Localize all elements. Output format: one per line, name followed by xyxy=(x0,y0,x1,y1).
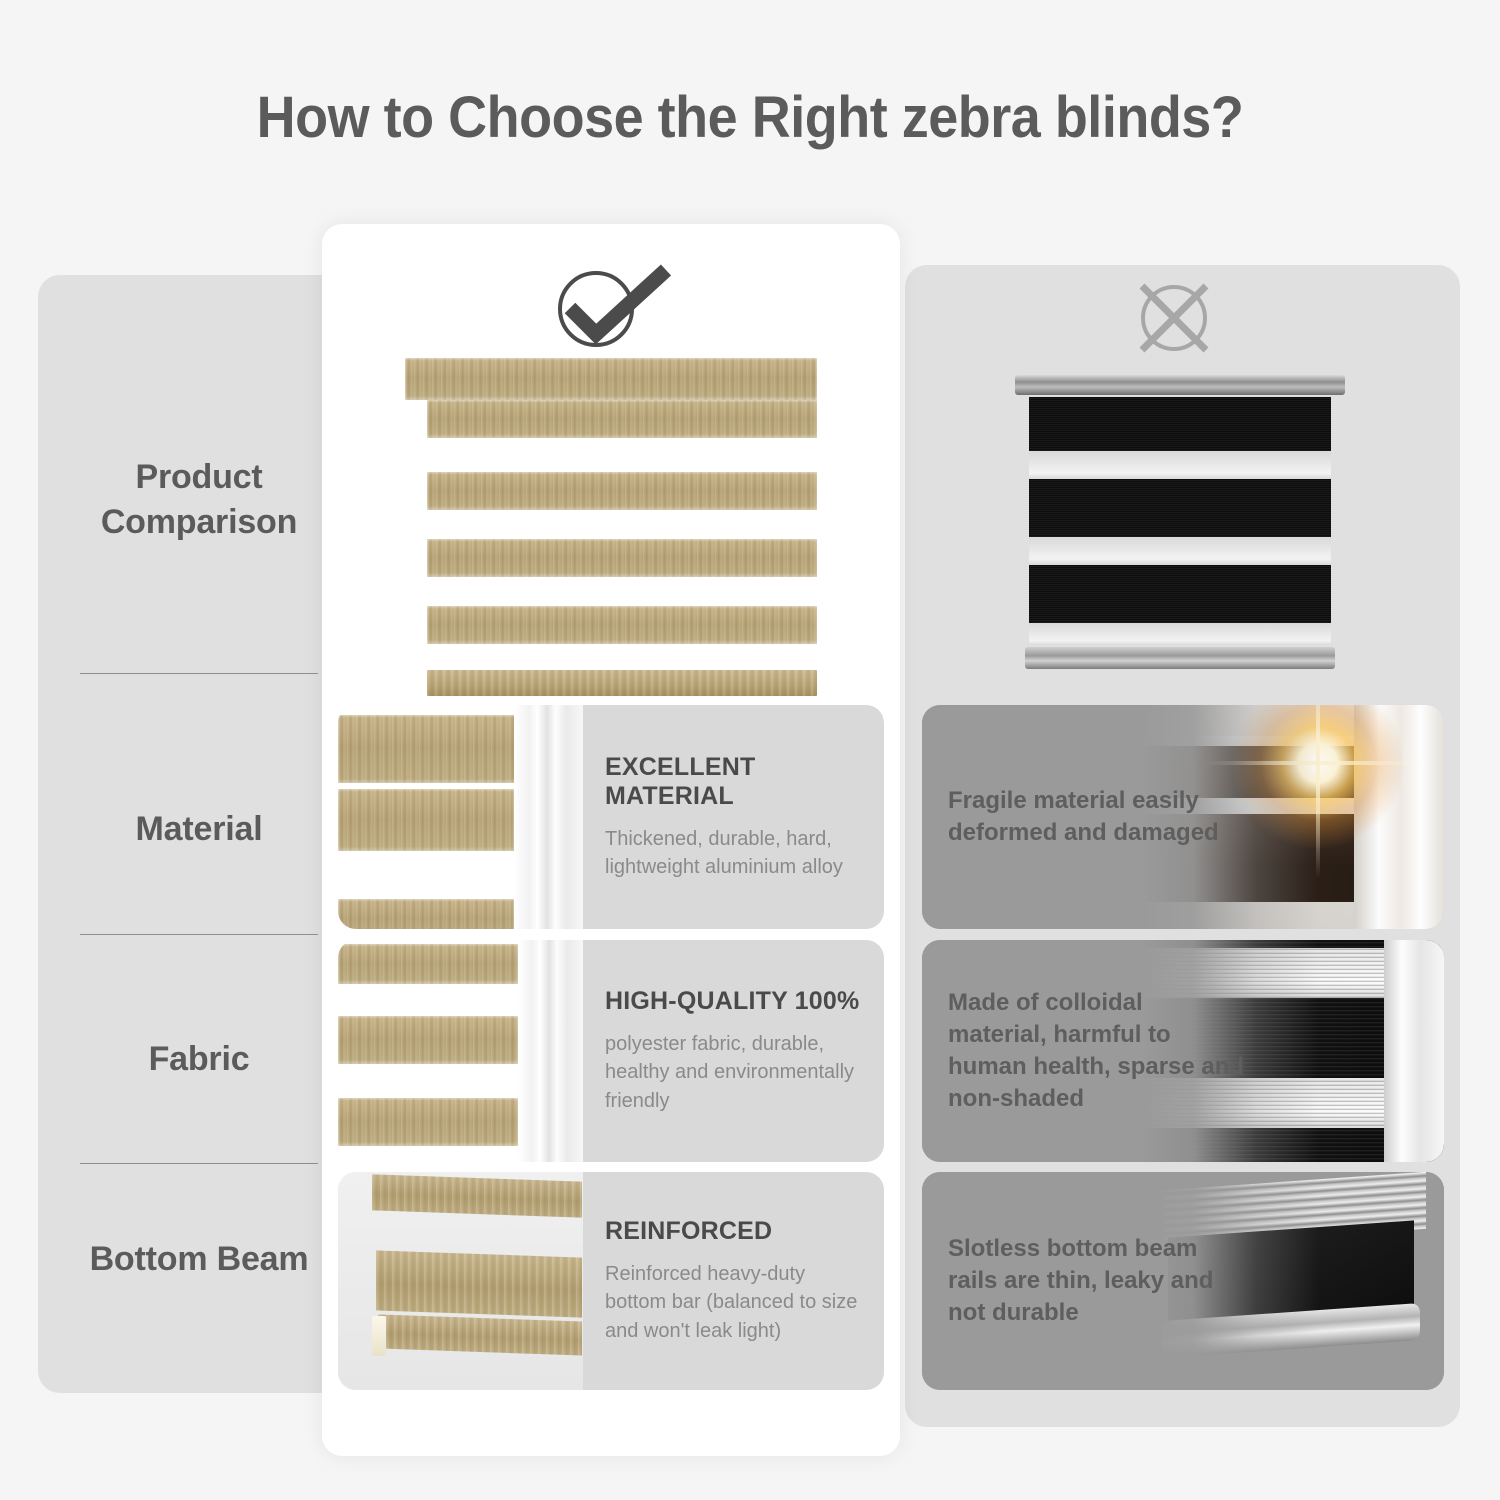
check-circle-icon xyxy=(548,262,678,352)
good-feature-card-bottom-beam: REINFORCED Reinforced heavy-duty bottom … xyxy=(338,1172,884,1390)
feature-heading: HIGH-QUALITY 100% xyxy=(605,987,862,1016)
blind-slat xyxy=(427,539,817,577)
bottom-bar-end-cap xyxy=(372,1316,386,1356)
sidebar-item-bottom-beam: Bottom Beam xyxy=(38,1205,360,1315)
sidebar-item-product-comparison: Product Comparison xyxy=(38,445,360,555)
blind-slat xyxy=(338,944,518,984)
blind-valance xyxy=(405,358,817,400)
blind-bottom-bar xyxy=(378,1314,582,1355)
feature-text: REINFORCED Reinforced heavy-duty bottom … xyxy=(583,1172,884,1390)
beige-blind-fabric-closeup-photo xyxy=(338,940,583,1162)
sidebar-item-label: Bottom Beam xyxy=(90,1237,309,1282)
blind-sheer-gap xyxy=(338,851,514,899)
feature-text: EXCELLENT MATERIAL Thickened, durable, h… xyxy=(583,705,884,929)
feature-text: Made of colloidal material, harmful to h… xyxy=(948,940,1248,1162)
good-hero-blind-image xyxy=(405,358,817,696)
sidebar: Product Comparison Material Fabric Botto… xyxy=(38,275,360,1393)
blind-bottom-bar xyxy=(427,670,817,696)
sidebar-item-fabric: Fabric xyxy=(38,1025,360,1095)
blind-slat xyxy=(427,606,817,644)
sidebar-divider-3 xyxy=(80,1163,318,1164)
blind-fabric-body xyxy=(1029,397,1331,645)
blind-slat xyxy=(338,899,514,929)
cross-circle-icon xyxy=(1120,278,1228,358)
page-title: How to Choose the Right zebra blinds? xyxy=(53,84,1448,151)
beige-blind-window-frame-photo xyxy=(338,705,583,929)
bad-feature-card-fabric: Made of colloidal material, harmful to h… xyxy=(922,940,1444,1162)
sidebar-item-label: Material xyxy=(136,807,263,852)
blind-closeup xyxy=(338,940,583,1162)
blind-slat xyxy=(372,1174,582,1217)
blind-sheer-gap xyxy=(338,1146,518,1162)
good-feature-card-material: EXCELLENT MATERIAL Thickened, durable, h… xyxy=(338,705,884,929)
blind-sheer-gap xyxy=(338,984,518,1016)
blind-slat xyxy=(338,1016,518,1064)
blind-slat xyxy=(427,472,817,510)
bad-feature-card-bottom-beam: Slotless bottom beam rails are thin, lea… xyxy=(922,1172,1444,1390)
window-frame xyxy=(514,705,583,929)
sidebar-item-label: Fabric xyxy=(149,1037,250,1082)
sidebar-divider-1 xyxy=(80,673,318,674)
blind-sheer-gap xyxy=(338,1064,518,1098)
bad-feature-card-material: Fragile material easily deformed and dam… xyxy=(922,705,1444,929)
blind-slat xyxy=(376,1250,582,1317)
feature-text: Fragile material easily deformed and dam… xyxy=(948,705,1248,929)
bottom-bar-closeup xyxy=(338,1172,583,1390)
good-feature-card-fabric: HIGH-QUALITY 100% polyester fabric, dura… xyxy=(338,940,884,1162)
blind-bottom-rail xyxy=(1025,647,1335,669)
blind-headrail xyxy=(1015,375,1345,395)
feature-text: HIGH-QUALITY 100% polyester fabric, dura… xyxy=(583,940,884,1162)
feature-heading: EXCELLENT MATERIAL xyxy=(605,753,862,811)
blind-slat xyxy=(338,789,514,851)
feature-heading: REINFORCED xyxy=(605,1217,862,1246)
feature-text: Slotless bottom beam rails are thin, lea… xyxy=(948,1172,1248,1390)
blind-slat xyxy=(338,1098,518,1146)
blind-slat xyxy=(338,715,520,783)
sidebar-divider-2 xyxy=(80,934,318,935)
feature-body: Reinforced heavy-duty bottom bar (balanc… xyxy=(605,1260,862,1345)
blind-closeup xyxy=(338,705,583,929)
sidebar-item-material: Material xyxy=(38,795,360,865)
window-frame xyxy=(518,940,583,1162)
bad-hero-blind-image xyxy=(1015,375,1345,675)
feature-body: Thickened, durable, hard, lightweight al… xyxy=(605,825,862,882)
feature-body: polyester fabric, durable, healthy and e… xyxy=(605,1030,862,1115)
blind-slat xyxy=(427,400,817,438)
sidebar-item-label: Product Comparison xyxy=(38,455,360,545)
beige-bottom-bar-closeup-photo xyxy=(338,1172,583,1390)
